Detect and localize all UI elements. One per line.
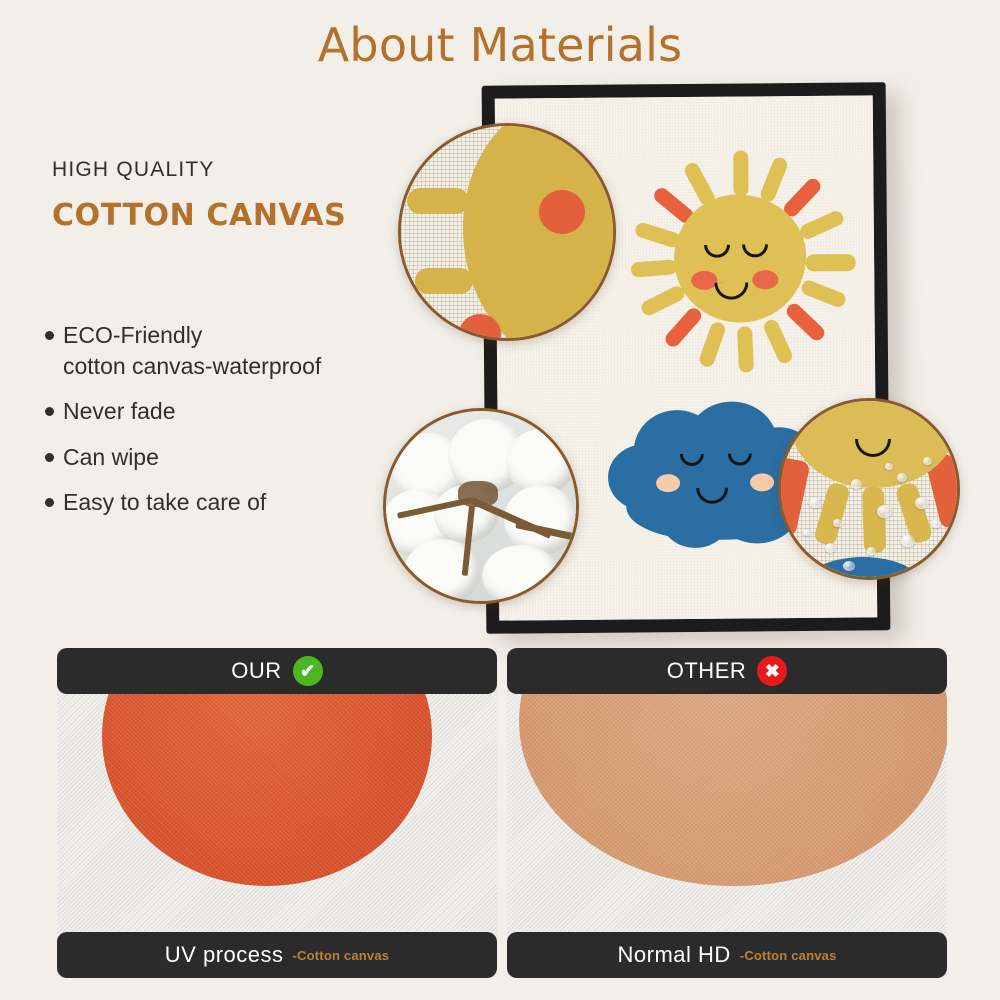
our-footer-sub: -Cotton canvas — [293, 948, 390, 963]
bullet-dot-icon — [45, 453, 54, 462]
bullet-dot-icon — [45, 331, 54, 340]
feature-text: Never fade — [63, 396, 176, 427]
magnifier-canvas-weave — [398, 123, 616, 341]
feature-text: ECO-Friendly cotton canvas-waterproof — [63, 320, 321, 381]
our-footer-bar: UV process -Cotton canvas — [57, 932, 497, 978]
intro-block: HIGH QUALITY COTTON CANVAS — [52, 158, 422, 233]
sun-face — [674, 194, 807, 323]
cloud-cheek-left — [656, 474, 680, 492]
other-footer-label: Normal HD — [618, 942, 731, 968]
page-title: About Materials — [0, 18, 1000, 72]
magnifier-waterproof — [778, 398, 960, 580]
sun-cheek-right — [752, 270, 778, 289]
feature-text: Can wipe — [63, 442, 159, 473]
headline-text: COTTON CANVAS — [52, 198, 422, 233]
our-header-bar: OUR ✔ — [57, 648, 497, 694]
cloud-cheek-right — [750, 473, 774, 491]
our-footer-label: UV process — [165, 942, 284, 968]
our-swatch-canvas — [57, 648, 497, 978]
other-footer-bar: Normal HD -Cotton canvas — [507, 932, 947, 978]
weave-ray-2 — [415, 268, 473, 294]
eyebrow-text: HIGH QUALITY — [52, 158, 422, 182]
feature-line1: ECO-Friendly — [63, 322, 202, 348]
bullet-dot-icon — [45, 407, 54, 416]
check-icon: ✔ — [293, 656, 323, 686]
magnifier-cotton-photo — [383, 408, 579, 604]
list-item: Can wipe — [45, 442, 445, 473]
list-item: ECO-Friendly cotton canvas-waterproof — [45, 320, 445, 381]
list-item: Never fade — [45, 396, 445, 427]
feature-text: Easy to take care of — [63, 487, 266, 518]
weave-ray-1 — [407, 188, 469, 214]
other-footer-sub: -Cotton canvas — [740, 948, 837, 963]
weave-sun-shape — [463, 123, 616, 341]
bullet-dot-icon — [45, 498, 54, 507]
comparison-panel-other: OTHER ✖ Normal HD -Cotton canvas — [507, 648, 947, 978]
weave-dot-1 — [539, 190, 585, 234]
comparison-panel-our: OUR ✔ UV process -Cotton canvas — [57, 648, 497, 978]
other-swatch-canvas — [507, 648, 947, 978]
sun-cheek-left — [691, 271, 717, 290]
sun-character — [615, 135, 867, 387]
other-header-bar: OTHER ✖ — [507, 648, 947, 694]
our-header-label: OUR — [231, 658, 281, 684]
other-header-label: OTHER — [667, 658, 747, 684]
feature-line2: cotton canvas-waterproof — [63, 353, 321, 379]
cross-icon: ✖ — [757, 656, 787, 686]
